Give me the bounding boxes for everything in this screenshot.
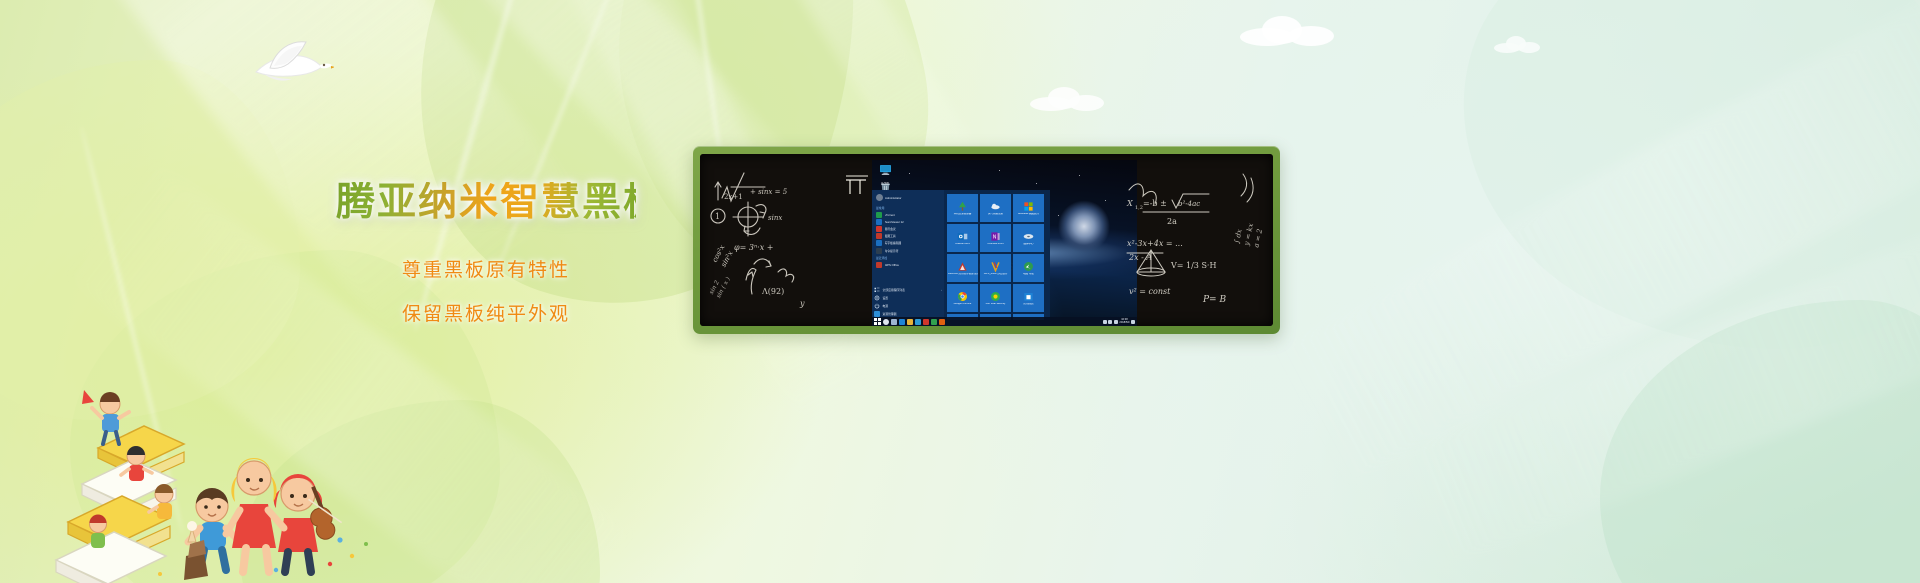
media-icon [1023, 231, 1034, 242]
svg-text:P= B: P= B [1202, 295, 1226, 305]
windows-start-button[interactable] [874, 318, 881, 325]
tile-label: 360 Total Security [981, 303, 1011, 306]
svg-text:2a: 2a [1167, 217, 1177, 226]
tile[interactable]: N OneNote 2013 [980, 224, 1011, 252]
smart-blackboard-device: 2x+1 + sinx = 5 1 sinx cos²x sin [693, 146, 1280, 334]
svg-text:1: 1 [715, 212, 720, 221]
tile-label: Outlook 2013 [948, 243, 978, 246]
taskbar[interactable]: 10:38 2018/5/9 [872, 317, 1137, 326]
tile[interactable]: 天气预报记录 [980, 194, 1011, 222]
gear-icon [874, 295, 880, 301]
start-app-label: uTorrent [885, 213, 895, 217]
system-tray[interactable]: 10:38 2018/5/9 [1103, 319, 1135, 324]
confetti [350, 554, 354, 558]
chalk-pi-formula [844, 168, 884, 228]
mail-icon[interactable] [923, 319, 929, 325]
chrome-icon[interactable] [931, 319, 937, 325]
search-icon[interactable] [883, 319, 889, 325]
pencil-stand [184, 540, 208, 580]
windows-desktop[interactable]: 此电脑 回收站 Windows 10 [872, 160, 1137, 326]
all-apps-item[interactable]: 全部应用程序列表 › [874, 286, 942, 294]
tile-label: 本机资源管理器 [948, 213, 978, 216]
all-apps-label: 全部应用程序列表 [883, 288, 905, 292]
wordpad-icon [876, 240, 882, 246]
start-app-item[interactable]: 腾讯会议 [875, 225, 942, 232]
svg-text:sinx: sinx [768, 214, 782, 222]
snip-tool-icon [876, 233, 882, 239]
svg-text:∫ dx: ∫ dx [1233, 228, 1244, 244]
outlook-icon [957, 231, 968, 242]
svg-text:y = kx: y = kx [1242, 223, 1255, 248]
tree-icon [957, 201, 968, 212]
settings-label: 设置 [883, 296, 889, 300]
notification-icon[interactable] [1131, 320, 1135, 324]
account-name: Administrator [885, 196, 901, 200]
start-app-item[interactable]: 截图工具 [875, 233, 942, 240]
confetti [274, 568, 278, 572]
tile[interactable]: Autodesk 画图软件 [1013, 194, 1044, 222]
group-header-recently-added: 最近添加 [876, 256, 942, 260]
maps-icon [1023, 261, 1034, 272]
children-illustration [40, 278, 400, 583]
dove-icon [246, 30, 334, 92]
svg-text:Λ(92): Λ(92) [761, 287, 784, 296]
promo-banner: 腾亚纳米智慧黑板 尊重黑板原有特性 保留黑板纯平外观 2x+1 + sinx =… [0, 0, 1920, 583]
confetti [328, 562, 332, 566]
start-menu[interactable]: Administrator 最常用 uTorrent TeamViewer 12 [872, 190, 1050, 320]
confetti [364, 542, 368, 546]
volume-icon[interactable] [1108, 320, 1112, 324]
svg-text:sin²x: sin²x [720, 250, 735, 269]
start-app-item[interactable]: WPS Office [875, 261, 942, 268]
svg-text:φ= 3ⁿ·x +: φ= 3ⁿ·x + [734, 243, 773, 252]
kid-standing [226, 458, 284, 572]
explorer-label: 资源管理器 [883, 312, 897, 316]
confetti [337, 537, 342, 542]
chrome-icon [957, 291, 968, 302]
start-app-item[interactable]: 写字板编辑器 [875, 240, 942, 247]
explorer-icon[interactable] [907, 319, 913, 325]
tile[interactable]: AutoCAD 应用程序管理 软件 [947, 254, 978, 282]
store-icon[interactable] [915, 319, 921, 325]
tile[interactable]: WPS_office 办公软件 [980, 254, 1011, 282]
svg-text:+ sinx = 5: + sinx = 5 [750, 188, 788, 196]
clock-date: 2018/5/9 [1119, 321, 1129, 324]
svg-text:y: y [799, 299, 805, 308]
power-icon [874, 303, 880, 309]
command-prompt-icon [876, 248, 882, 254]
tile-label: WPS_office 办公软件 [981, 273, 1011, 276]
page-title: 腾亚纳米智慧黑板 [336, 182, 636, 225]
taskbar-clock[interactable]: 10:38 2018/5/9 [1119, 319, 1129, 324]
cloud-icon [1240, 14, 1336, 48]
svg-text:sin ( x ): sin ( x ) [715, 275, 732, 299]
user-account[interactable]: Administrator [875, 193, 942, 204]
confetti [158, 572, 162, 576]
start-app-label: TeamViewer 12 [885, 220, 904, 224]
tile[interactable]: Outlook 2013 [947, 224, 978, 252]
start-menu-bottom[interactable]: 全部应用程序列表 › 设置 [874, 286, 942, 318]
svg-text:V= 1/3 S·H: V= 1/3 S·H [1170, 261, 1216, 270]
apps-list-icon [874, 287, 880, 293]
tile-label: Autodesk 画图软件 [1014, 213, 1044, 216]
start-app-label: WPS Office [885, 263, 899, 267]
shield-icon [990, 291, 1001, 302]
start-app-label: 写字板编辑器 [885, 241, 902, 245]
chalk-formulas-right: X 1,2 =-b ± b²-4ac 2a x²-3x+4x = ... 2x … [1123, 154, 1273, 326]
start-app-item[interactable]: 命令提示符 [875, 247, 942, 254]
tile[interactable]: 本机资源管理器 [947, 194, 978, 222]
svg-text:b²-4ac: b²-4ac [1178, 200, 1200, 208]
svg-text:sin 2: sin 2 [708, 279, 721, 295]
light-streak [1385, 155, 1920, 575]
power-item[interactable]: 电源 [874, 302, 942, 310]
tile-label: 媒体中心 [1014, 243, 1044, 246]
svg-text:cos²x: cos²x [711, 244, 727, 264]
tile-label: 天气预报记录 [981, 213, 1011, 216]
start-app-item[interactable]: TeamViewer 12 [875, 218, 942, 225]
svg-text:2x+1: 2x+1 [724, 193, 743, 201]
task-view-icon[interactable] [891, 319, 897, 325]
power-label: 电源 [883, 304, 889, 308]
start-app-label: 腾讯会议 [885, 227, 896, 231]
start-app-label: 命令提示符 [885, 249, 899, 253]
chevron-right-icon: › [941, 288, 942, 292]
wps-icon[interactable] [939, 319, 945, 325]
cloud-icon [1030, 86, 1106, 112]
cloud-icon [990, 201, 1001, 212]
tile[interactable]: 应用商店 [1013, 284, 1044, 312]
light-streak [1265, 0, 1920, 492]
tile[interactable]: 360 Total Security [980, 284, 1011, 312]
kid-violinist [274, 474, 345, 572]
tile-label: 应用商店 [1014, 303, 1044, 306]
tile[interactable]: 地图 导航 [1013, 254, 1044, 282]
start-menu-tiles[interactable]: 本机资源管理器 天气预报记录 Autodesk 画图软件 [944, 190, 1050, 320]
wps-icon [990, 261, 1001, 272]
tile[interactable]: Google Chrome [947, 284, 978, 312]
group-header-most-used: 最常用 [876, 206, 942, 210]
start-app-item[interactable]: uTorrent [875, 211, 942, 218]
leaf-shape [1600, 300, 1920, 583]
network-icon[interactable] [1103, 320, 1107, 324]
start-app-label: 截图工具 [885, 234, 896, 238]
battery-icon[interactable] [1114, 320, 1118, 324]
tile-label: OneNote 2013 [981, 243, 1011, 246]
svg-text:=-b ±: =-b ± [1143, 199, 1167, 208]
tile-label: 地图 导航 [1014, 273, 1044, 276]
onenote-icon: N [990, 231, 1001, 242]
store-icon [1023, 291, 1034, 302]
svg-text:N: N [993, 234, 997, 240]
windows-icon [1023, 201, 1034, 212]
blackboard-surface: 2x+1 + sinx = 5 1 sinx cos²x sin [700, 154, 1273, 326]
tile-label: AutoCAD 应用程序管理 软件 [948, 273, 978, 276]
cloud-icon [1494, 36, 1540, 54]
leaf-shape [1397, 0, 1920, 428]
settings-item[interactable]: 设置 [874, 294, 942, 302]
tile-label: Google Chrome [948, 303, 978, 306]
svg-text:a = 2: a = 2 [1252, 228, 1264, 249]
edge-icon[interactable] [899, 319, 905, 325]
wps-icon [876, 262, 882, 268]
tile[interactable]: 媒体中心 [1013, 224, 1044, 252]
cad-icon [957, 261, 968, 272]
